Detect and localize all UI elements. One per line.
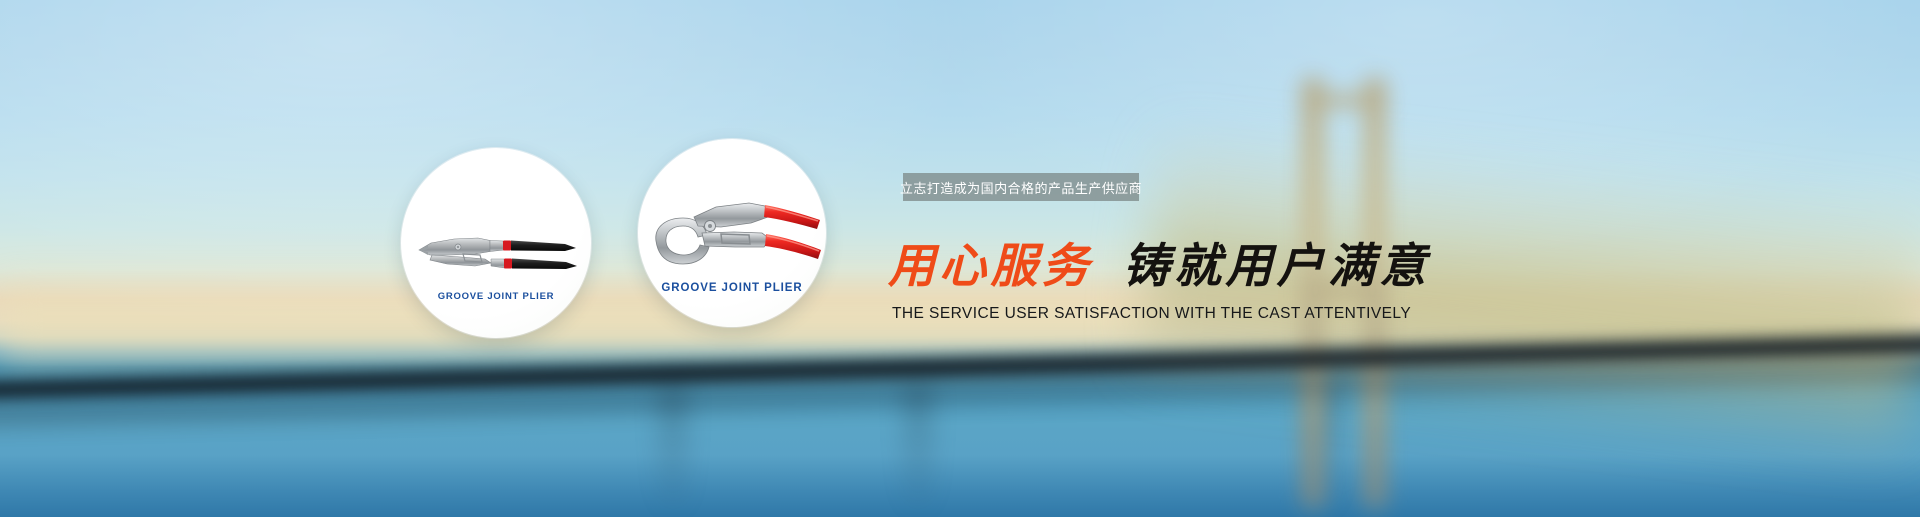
tagline-text: 立志打造成为国内合格的产品生产供应商 [900, 178, 1142, 197]
product-circle-1[interactable]: GROOVE JOINT PLIER [401, 148, 591, 338]
headline-english-subtitle: THE SERVICE USER SATISFACTION WITH THE C… [892, 305, 1411, 323]
groove-joint-plier-icon [646, 195, 824, 267]
bridge-tower-crossbar [1300, 94, 1388, 107]
product-caption: GROOVE JOINT PLIER [401, 291, 591, 302]
headline: 用心服务 铸就用户满意 [888, 243, 1430, 290]
headline-secondary: 铸就用户满意 [1123, 243, 1430, 290]
hero-banner: GROOVE JOINT PLIER [0, 0, 1920, 517]
product-caption: GROOVE JOINT PLIER [638, 282, 826, 294]
groove-joint-plier-icon [415, 224, 579, 272]
headline-primary: 用心服务 [888, 243, 1093, 290]
product-circle-2[interactable]: GROOVE JOINT PLIER [638, 139, 826, 327]
tagline-bar: 立志打造成为国内合格的产品生产供应商 [903, 173, 1139, 201]
